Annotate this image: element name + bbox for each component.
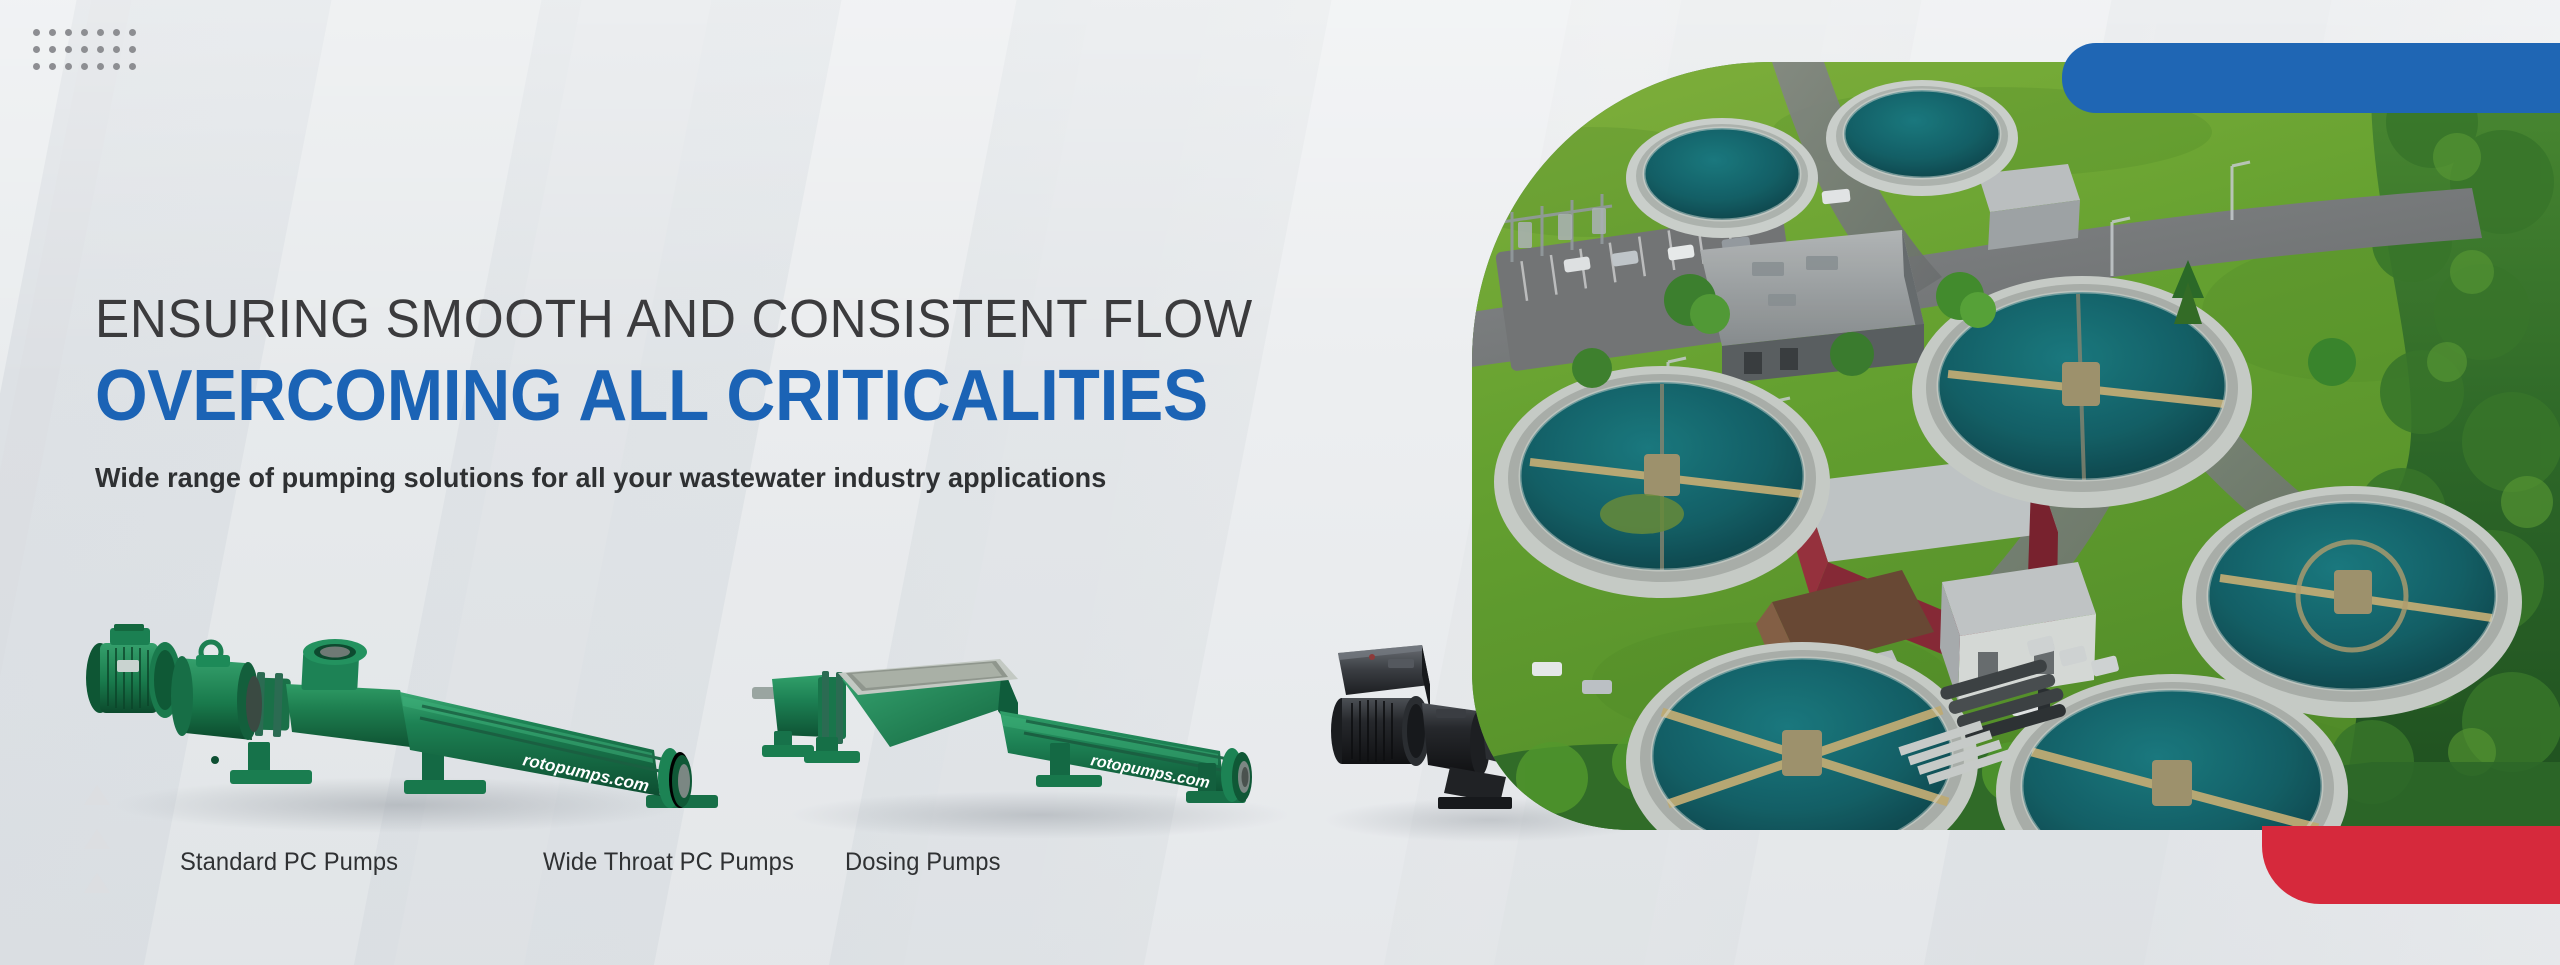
grid-dot — [129, 29, 136, 36]
grid-dot — [113, 46, 120, 53]
blue-accent-bar — [2062, 43, 2560, 113]
grid-dot — [81, 29, 88, 36]
product-label-wide-throat-pc-pumps: Wide Throat PC Pumps — [543, 848, 794, 877]
grid-dot — [81, 63, 88, 70]
grid-dot — [65, 46, 72, 53]
wastewater-treatment-plant-photo — [1472, 62, 2560, 830]
grid-dot — [49, 29, 56, 36]
dot-grid-decoration — [33, 29, 145, 80]
hero-photo-frame — [1472, 62, 2560, 830]
product-standard-pc-pump[interactable]: rotopumps.com — [70, 600, 730, 850]
wide-throat-pc-pump-image: rotopumps.com — [750, 625, 1310, 850]
grid-dot — [49, 46, 56, 53]
headline-line-1: ENSURING SMOOTH AND CONSISTENT FLOW — [95, 290, 1349, 348]
grid-dot — [65, 29, 72, 36]
headline-line-2: OVERCOMING ALL CRITICALITIES — [95, 357, 1336, 436]
product-wide-throat-pc-pump[interactable]: rotopumps.com — [750, 625, 1310, 850]
headline-block: ENSURING SMOOTH AND CONSISTENT FLOW OVER… — [95, 290, 1415, 496]
standard-pc-pump-image: rotopumps.com — [70, 600, 730, 850]
grid-dot — [97, 46, 104, 53]
grid-dot — [113, 63, 120, 70]
grid-dot — [129, 63, 136, 70]
grid-dot — [97, 63, 104, 70]
grid-dot — [97, 29, 104, 36]
grid-dot — [129, 46, 136, 53]
grid-dot — [33, 46, 40, 53]
grid-dot — [33, 29, 40, 36]
product-label-standard-pc-pumps: Standard PC Pumps — [180, 848, 398, 877]
grid-dot — [113, 29, 120, 36]
hero-banner: ENSURING SMOOTH AND CONSISTENT FLOW OVER… — [0, 0, 2560, 965]
grid-dot — [81, 46, 88, 53]
red-accent-bar — [2262, 826, 2560, 904]
product-label-dosing-pumps: Dosing Pumps — [845, 848, 1001, 877]
subheadline: Wide range of pumping solutions for all … — [95, 459, 1369, 497]
grid-dot — [33, 63, 40, 70]
grid-dot — [65, 63, 72, 70]
grid-dot — [49, 63, 56, 70]
